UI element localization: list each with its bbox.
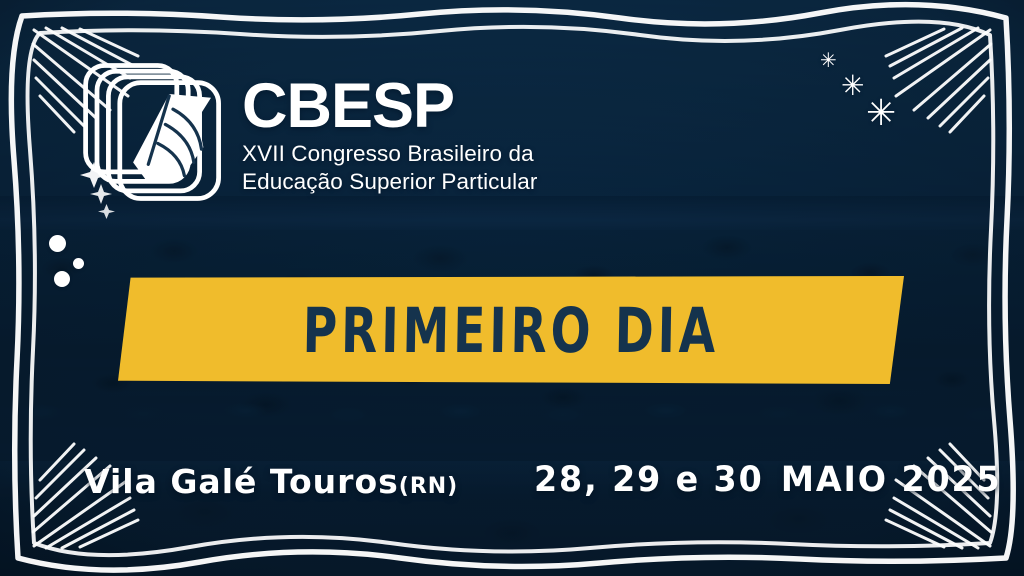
brand-lockup: CBESP XVII Congresso Brasileiro da Educa… <box>78 52 537 208</box>
cbesp-logo-icon <box>78 56 230 208</box>
event-poster: CBESP XVII Congresso Brasileiro da Educa… <box>0 0 1024 576</box>
primeiro-dia-banner: PRIMEIRO DIA <box>118 276 904 384</box>
banner-label: PRIMEIRO DIA <box>302 294 720 367</box>
congress-subtitle: XVII Congresso Brasileiro da Educação Su… <box>242 140 537 197</box>
congress-subtitle-line1: XVII Congresso Brasileiro da <box>242 140 537 168</box>
congress-subtitle-line2: Educação Superior Particular <box>242 168 537 196</box>
brand-text: CBESP XVII Congresso Brasileiro da Educa… <box>242 52 537 197</box>
venue-line: Vila Galé Touros(RN) <box>84 462 458 501</box>
dates-month-year: MAIO 2025 <box>781 460 1002 500</box>
venue-name: Vila Galé Touros <box>84 462 399 501</box>
dates-days: 28, 29 e 30 <box>534 460 764 500</box>
dates-separator <box>764 460 781 500</box>
venue-state: (RN) <box>399 474 458 499</box>
dates-line: 28, 29 e 30 MAIO 2025 <box>534 460 1002 500</box>
highlight-banner-area: PRIMEIRO DIA <box>0 268 1024 396</box>
wordmark-cbesp: CBESP <box>242 78 537 136</box>
